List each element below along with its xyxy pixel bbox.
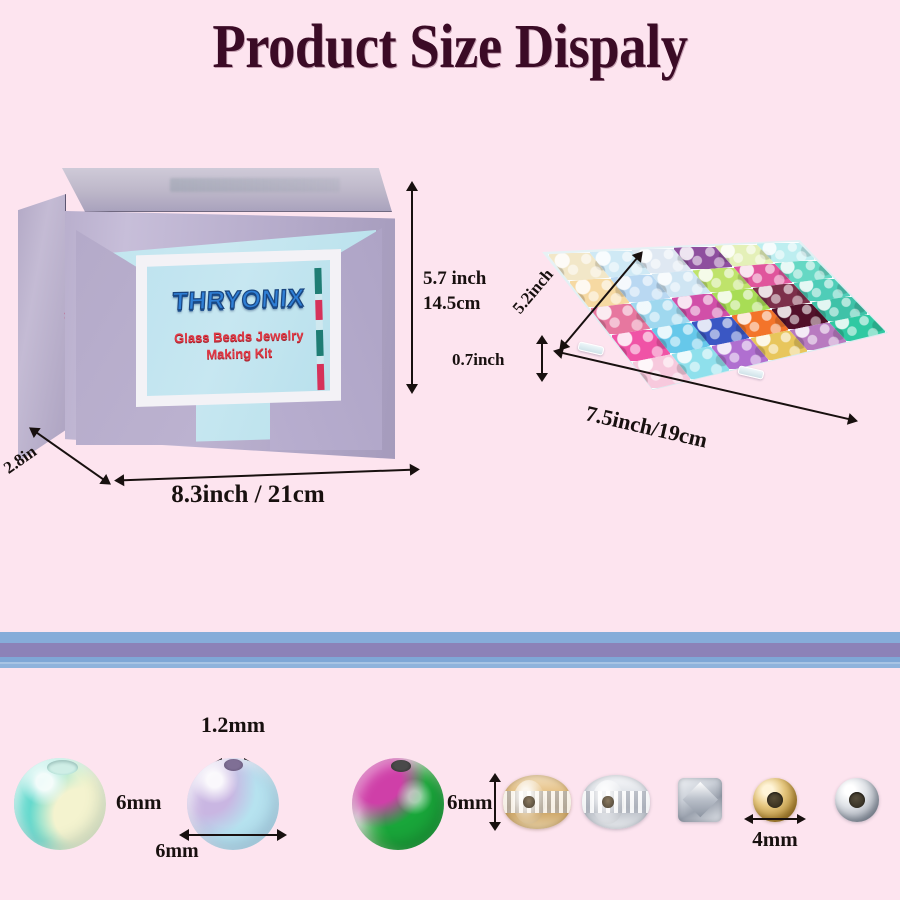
divider-band-purple xyxy=(0,643,900,657)
case-latch-left[interactable] xyxy=(577,341,604,356)
box-width-label: 8.3inch / 21cm xyxy=(113,481,383,509)
spacer-hole xyxy=(767,792,784,809)
page-title: Product Size Dispaly xyxy=(54,14,846,80)
marbled-teal-cream-bead xyxy=(14,758,106,850)
bead-hole-size-label: 1.2mm xyxy=(186,712,280,738)
stripe-red-1 xyxy=(315,300,323,320)
box-height-inch: 5.7 inch xyxy=(423,266,486,291)
spacer-size-arrow xyxy=(752,818,798,820)
case-compartment-grid xyxy=(520,240,888,390)
silver-faceted-cube xyxy=(678,778,722,822)
box-left-side-face: Glass Beads Jewelry Making Kit xyxy=(18,194,66,462)
bead-diameter-arrow xyxy=(188,834,278,836)
stripe-gap-3 xyxy=(317,356,324,364)
infographic-canvas: Product Size Dispaly Glass Beads Jewelry… xyxy=(0,0,900,900)
silver-round-spacer xyxy=(835,778,879,822)
divider-band-blue-bottom xyxy=(0,664,900,668)
bead1-size-label: 6mm xyxy=(116,790,162,815)
stripe-gap-2 xyxy=(316,320,323,330)
box-top-face xyxy=(62,168,392,212)
spacer-hole xyxy=(849,792,866,809)
bead3-size-label: 6mm xyxy=(447,790,493,815)
rondelle-height-arrow xyxy=(494,781,496,823)
stripe-teal-1 xyxy=(314,268,322,294)
stripe-red-2 xyxy=(317,364,325,390)
case-latch-right[interactable] xyxy=(737,365,764,380)
stripe-teal-2 xyxy=(316,330,324,356)
magenta-green-crackle-bead xyxy=(352,758,444,850)
shipping-box-illustration: Glass Beads Jewelry Making Kit THRYONIX … xyxy=(18,168,418,478)
case-thickness-arrow xyxy=(541,343,543,374)
case-thickness-label: 0.7inch xyxy=(452,350,504,370)
silver-rhinestone-rondelle xyxy=(582,775,650,829)
gold-rhinestone-rondelle xyxy=(503,775,571,829)
bead2-diameter-label: 6mm xyxy=(130,840,224,863)
lavender-blue-bead xyxy=(187,758,279,850)
bead-hole xyxy=(391,760,411,772)
spacer-size-label: 4mm xyxy=(745,827,805,852)
bead-hole xyxy=(224,759,243,771)
divider-band-blue-top xyxy=(0,632,900,643)
brand-logo-text: THRYONIX xyxy=(150,286,326,316)
gold-round-spacer xyxy=(753,778,797,822)
box-height-arrow xyxy=(411,190,413,385)
box-height-label: 5.7 inch 14.5cm xyxy=(423,266,486,316)
box-height-cm: 14.5cm xyxy=(423,291,486,316)
box-tagline: Glass Beads Jewelry Making Kit xyxy=(149,326,330,364)
box-top-embossed-text xyxy=(170,178,340,192)
bead-hole xyxy=(47,760,78,776)
